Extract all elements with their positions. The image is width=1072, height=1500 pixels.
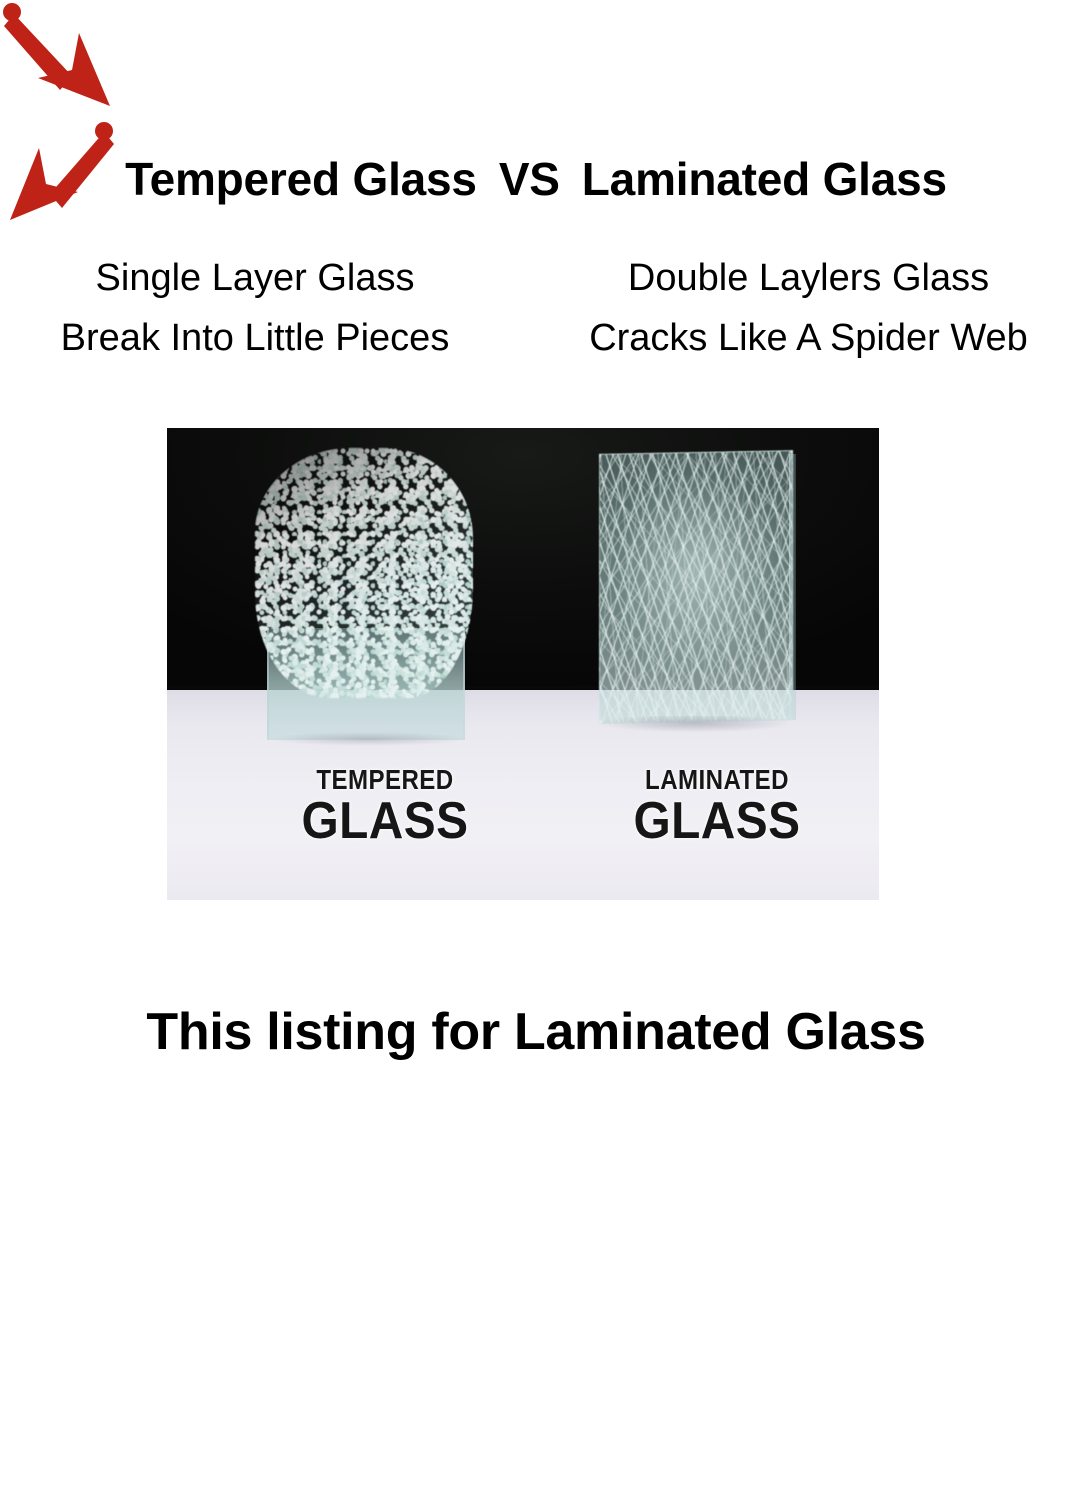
laminated-panel-edge: [789, 454, 796, 720]
photo-caption-laminated-top: LAMINATED: [562, 766, 872, 795]
tempered-description-line-1: Single Layer Glass: [10, 248, 500, 308]
laminated-panel-shadow: [603, 716, 787, 732]
laminated-description: Double Laylers Glass Cracks Like A Spide…: [545, 248, 1072, 368]
page-title: Tempered GlassVSLaminated Glass: [0, 152, 1072, 206]
tempered-crumble-shading: [255, 448, 473, 698]
tempered-description: Single Layer Glass Break Into Little Pie…: [10, 248, 500, 368]
comparison-photo: TEMPERED GLASS LAMINATED GLASS: [167, 428, 879, 900]
tempered-glass-panel: [255, 448, 473, 738]
laminated-description-line-1: Double Laylers Glass: [545, 248, 1072, 308]
laminated-glass-panel: [599, 452, 791, 736]
headline-vs-separator: VS: [477, 153, 582, 205]
headline-right-term: Laminated Glass: [582, 153, 947, 205]
tempered-pointer: [0, 0, 135, 120]
photo-caption-tempered-bottom: GLASS: [219, 795, 550, 847]
laminated-description-line-2: Cracks Like A Spider Web: [545, 308, 1072, 368]
photo-caption-tempered-top: TEMPERED: [230, 766, 540, 795]
photo-caption-laminated: LAMINATED GLASS: [537, 766, 879, 847]
tempered-panel-shadow: [273, 732, 463, 746]
photo-caption-laminated-bottom: GLASS: [551, 795, 879, 847]
tempered-description-line-2: Break Into Little Pieces: [10, 308, 500, 368]
photo-caption-tempered: TEMPERED GLASS: [205, 766, 565, 847]
headline-left-term: Tempered Glass: [125, 153, 477, 205]
listing-note: This listing for Laminated Glass: [0, 1002, 1072, 1062]
arrow-down-right-icon: [0, 0, 135, 120]
laminated-spiderweb-texture: [599, 450, 793, 724]
